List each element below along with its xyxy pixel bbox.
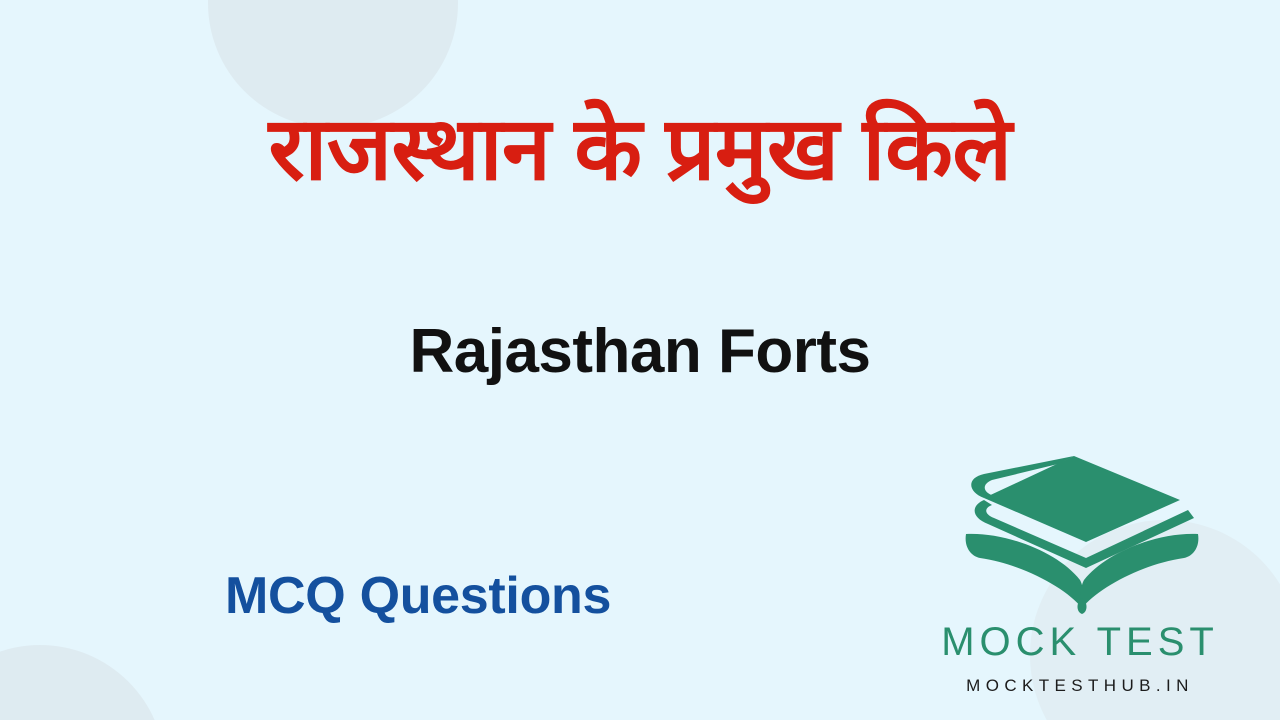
poster-canvas: राजस्थान के प्रमुख किले Rajasthan Forts …	[0, 0, 1280, 720]
decorative-circle-bottom-left-icon	[0, 645, 165, 720]
mcq-questions-label: MCQ Questions	[225, 568, 611, 625]
logo-domain-text: MOCKTESTHUB.IN	[930, 676, 1230, 696]
page-subtitle-english: Rajasthan Forts	[0, 318, 1280, 386]
page-title-hindi: राजस्थान के प्रमुख किले	[0, 100, 1280, 199]
logo-wordmark: MOCK TEST	[930, 620, 1230, 665]
brand-logo: MOCK TEST MOCKTESTHUB.IN	[930, 448, 1230, 706]
stacked-book-icon	[962, 448, 1202, 620]
